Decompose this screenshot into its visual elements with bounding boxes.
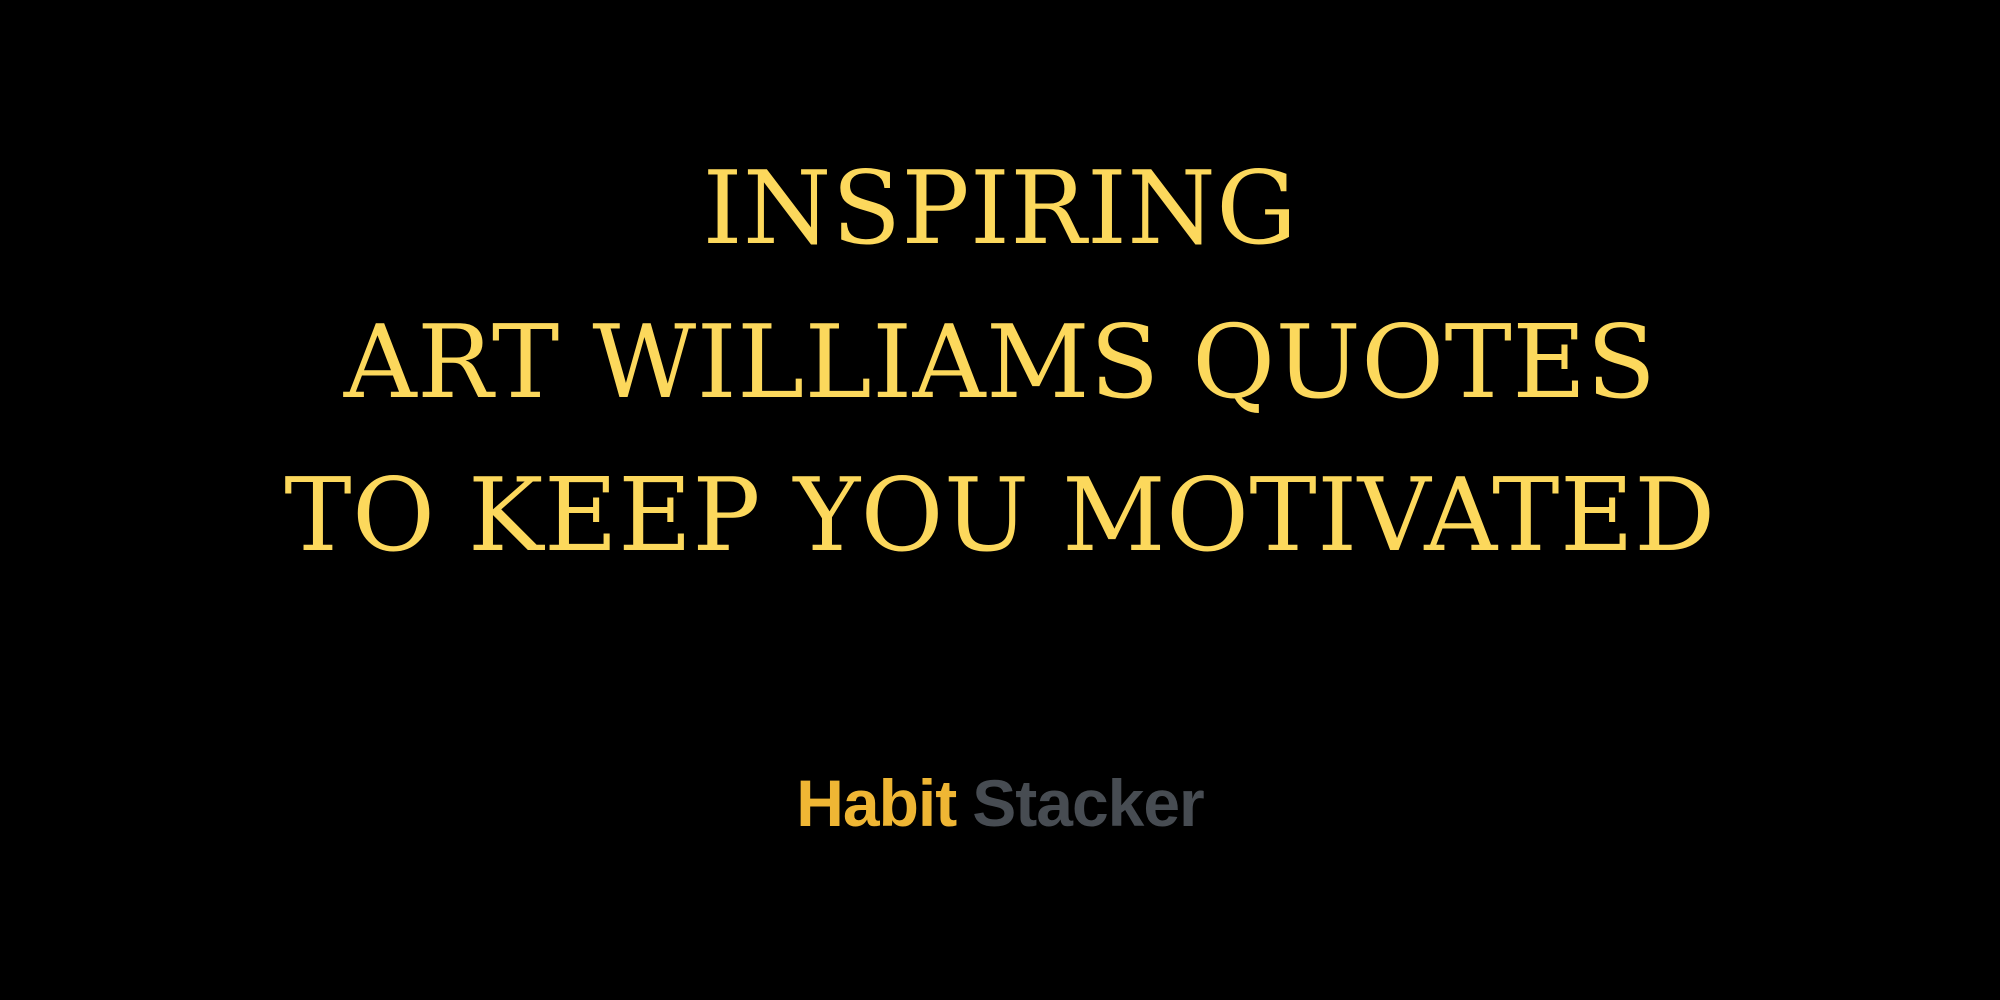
brand-logo-habit: Habit — [796, 766, 956, 840]
brand-logo-stacker: Stacker — [972, 766, 1204, 840]
brand-logo: HabitStacker — [0, 765, 2000, 841]
headline-line-1: INSPIRING — [0, 132, 2000, 286]
headline-line-2: ART WILLIAMS QUOTES — [0, 286, 2000, 440]
headline-line-3: TO KEEP YOU MOTIVATED — [0, 439, 2000, 593]
quote-poster: INSPIRING ART WILLIAMS QUOTES TO KEEP YO… — [0, 0, 2000, 1000]
page-title: INSPIRING ART WILLIAMS QUOTES TO KEEP YO… — [0, 132, 2000, 593]
